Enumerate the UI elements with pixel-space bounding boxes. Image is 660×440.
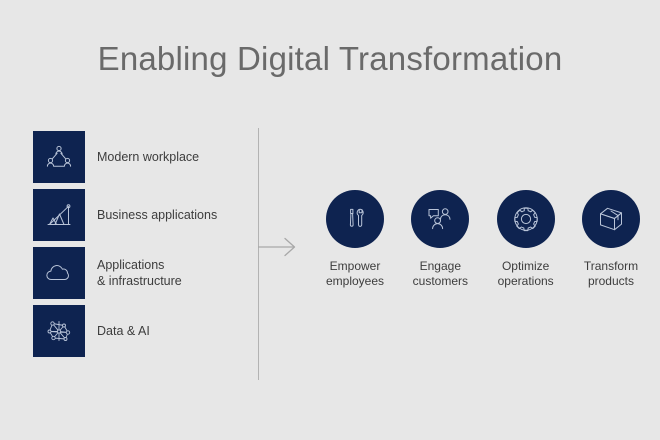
- pillar-tile-data-ai[interactable]: [33, 305, 85, 357]
- cloud-icon: [44, 258, 74, 288]
- outcome-label: Engage customers: [413, 259, 468, 290]
- page-title: Enabling Digital Transformation: [0, 40, 660, 78]
- tools-icon: [340, 204, 370, 234]
- people-network-icon: [44, 142, 74, 172]
- pillar-label: Business applications: [97, 207, 217, 223]
- pillar-tile-business-applications[interactable]: [33, 189, 85, 241]
- list-item[interactable]: Applications & infrastructure: [33, 244, 233, 302]
- pillar-label: Data & AI: [97, 323, 150, 339]
- outcome-circle[interactable]: [326, 190, 384, 248]
- outcome-label: Transform products: [584, 259, 638, 290]
- outcome-item-transform-products[interactable]: Transform products: [574, 190, 648, 290]
- bar-chart-growth-icon: [44, 200, 74, 230]
- outcome-circle[interactable]: [497, 190, 555, 248]
- list-item[interactable]: Data & AI: [33, 302, 233, 360]
- cube-box-icon: [596, 204, 626, 234]
- pillar-tile-applications-infrastructure[interactable]: [33, 247, 85, 299]
- people-chat-icon: [425, 204, 455, 234]
- node-graph-icon: [44, 316, 74, 346]
- outcome-circle[interactable]: [582, 190, 640, 248]
- outcome-label: Optimize operations: [498, 259, 554, 290]
- pillar-label: Applications & infrastructure: [97, 257, 182, 290]
- pillar-tile-modern-workplace[interactable]: [33, 131, 85, 183]
- outcome-item-optimize-operations[interactable]: Optimize operations: [489, 190, 563, 290]
- list-item[interactable]: Modern workplace: [33, 128, 233, 186]
- pillar-list: Modern workplace Business applications: [33, 128, 233, 360]
- pillar-label: Modern workplace: [97, 149, 199, 165]
- right-arrow-icon: [258, 234, 298, 260]
- list-item[interactable]: Business applications: [33, 186, 233, 244]
- outcome-item-empower-employees[interactable]: Empower employees: [318, 190, 392, 290]
- gear-icon: [511, 204, 541, 234]
- outcome-item-engage-customers[interactable]: Engage customers: [403, 190, 477, 290]
- outcome-group: Empower employees Engage customers: [318, 190, 648, 290]
- outcome-circle[interactable]: [411, 190, 469, 248]
- outcome-label: Empower employees: [326, 259, 384, 290]
